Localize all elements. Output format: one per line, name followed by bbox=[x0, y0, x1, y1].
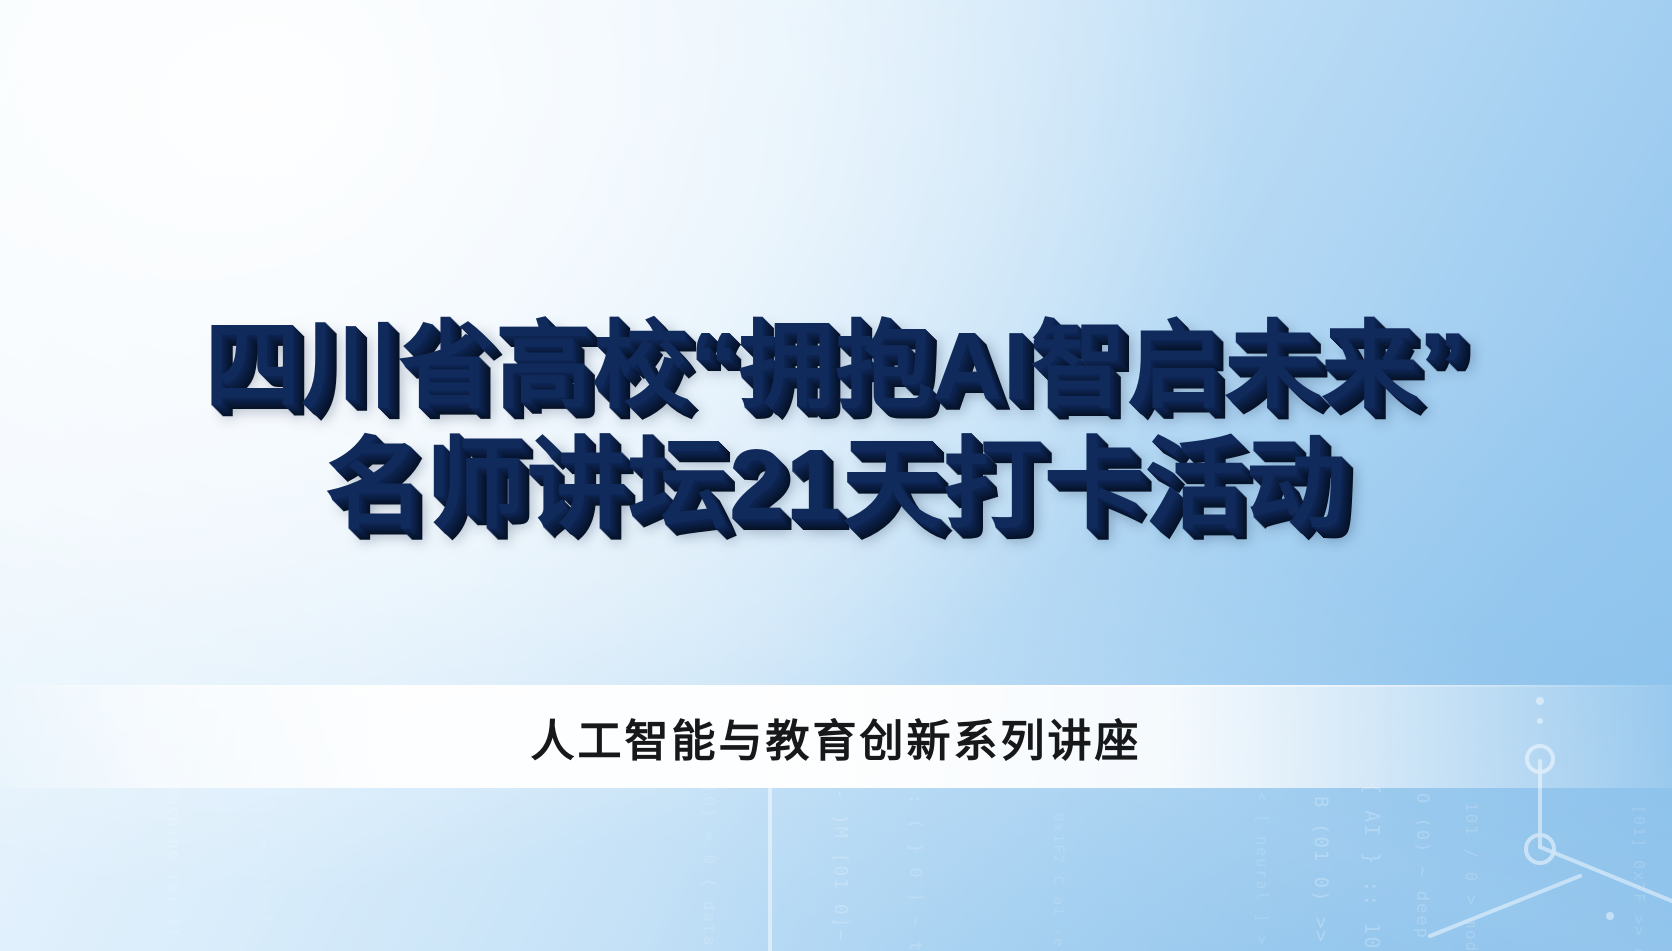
title-line-1: 四川省高校“拥抱AI智启未来” bbox=[0, 318, 1672, 416]
code-string: [01] 0x7F >> out bbox=[1630, 805, 1648, 951]
promo-poster: 01101 Machine (0) if x (0) [0] = 0 { dat… bbox=[0, 0, 1672, 951]
code-string: 0x1F2 C a1 -ef bbox=[1050, 813, 1066, 951]
code-string: O (0) ~ deep .net bbox=[1412, 793, 1432, 951]
circuit-dot-c bbox=[1606, 912, 1614, 920]
code-string: 101 / 0 > model( ) bbox=[1462, 802, 1481, 951]
subtitle: 人工智能与教育创新系列讲座 bbox=[0, 686, 1672, 787]
title-block: 四川省高校“拥抱AI智启未来” 名师讲坛21天打卡活动 bbox=[0, 318, 1672, 536]
code-string: : ( } 0 ] ~ t~ bbox=[905, 794, 925, 951]
code-string: < [ neural ] > 001 bbox=[1253, 792, 1271, 951]
title-line-2: 名师讲坛21天打卡活动 bbox=[0, 434, 1672, 536]
code-string: { AI } :: 1010 01 bbox=[1360, 782, 1384, 951]
code-string: B (01 0) >> 1101 bbox=[1310, 796, 1332, 951]
circuit-line-right-diagonal bbox=[1540, 847, 1672, 901]
code-string: x = 0b1011 ; ai bbox=[255, 820, 271, 951]
circuit-line-diagonal bbox=[1430, 876, 1580, 936]
